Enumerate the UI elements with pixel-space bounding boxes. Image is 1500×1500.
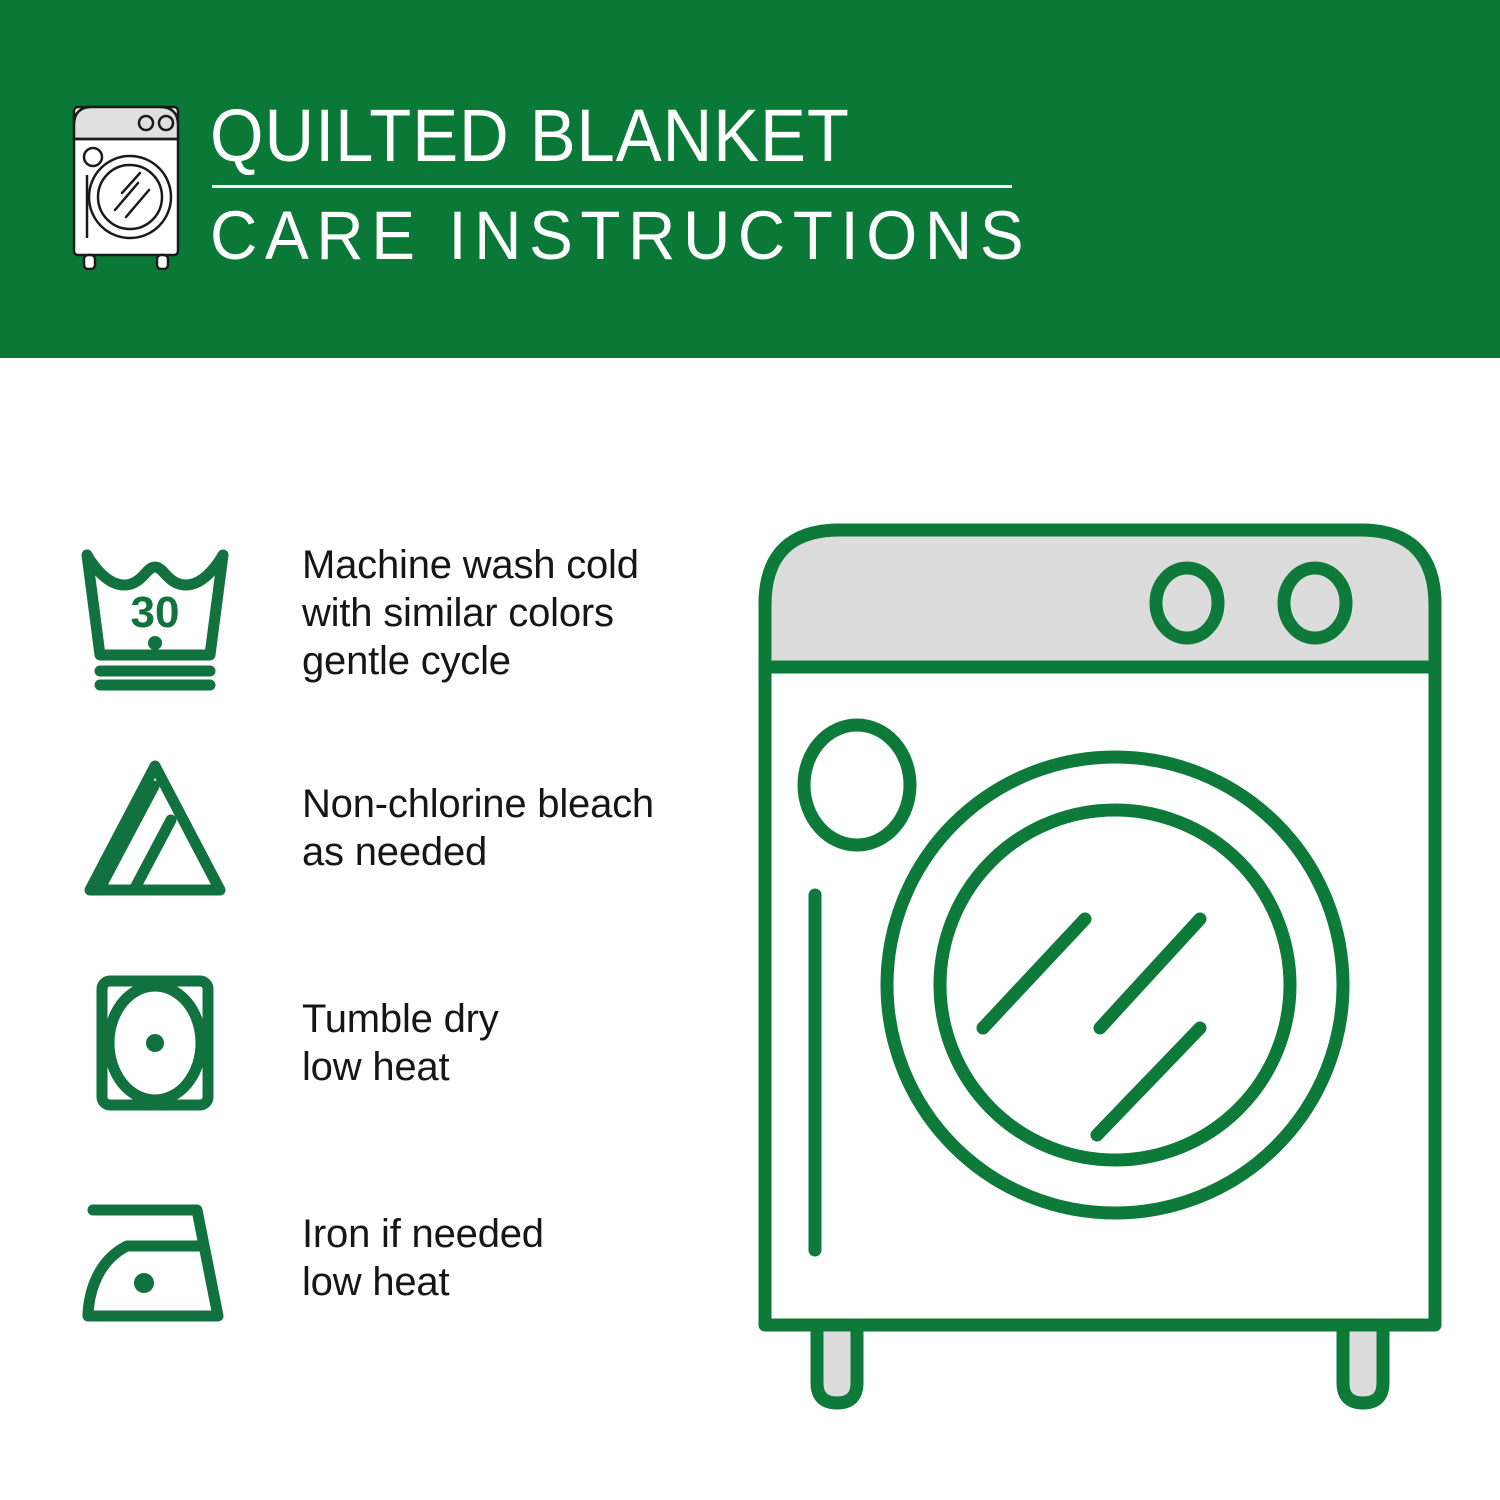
iron-low-heat-symbol: [70, 1173, 240, 1343]
care-label-line: low heat: [302, 1258, 544, 1306]
care-label-line: Non-chlorine bleach: [302, 780, 654, 828]
care-label-line: gentle cycle: [302, 637, 639, 685]
care-instruction-list: 30 Machine wash cold with similar colors…: [70, 505, 710, 1365]
non-chlorine-bleach-symbol: [70, 743, 240, 913]
care-label-line: with similar colors: [302, 589, 639, 637]
title-divider: [212, 185, 1012, 188]
header-band: QUILTED BLANKET CARE INSTRUCTIONS: [0, 0, 1500, 358]
care-label-line: Machine wash cold: [302, 541, 639, 589]
care-instructions-page: QUILTED BLANKET CARE INSTRUCTIONS 30: [0, 0, 1500, 1500]
washing-machine-icon: [60, 95, 192, 270]
page-title: QUILTED BLANKET: [210, 97, 1014, 175]
care-item-label: Iron if needed low heat: [302, 1210, 544, 1306]
header-titles: QUILTED BLANKET CARE INSTRUCTIONS: [210, 95, 1074, 272]
header-content: QUILTED BLANKET CARE INSTRUCTIONS: [60, 95, 1074, 272]
care-item-machine-wash: 30 Machine wash cold with similar colors…: [70, 505, 710, 720]
care-label-line: Iron if needed: [302, 1210, 544, 1258]
care-label-line: low heat: [302, 1043, 499, 1091]
care-label-line: as needed: [302, 828, 654, 876]
care-label-line: Tumble dry: [302, 995, 499, 1043]
front-load-washing-machine-illustration: [745, 495, 1455, 1415]
tumble-dry-low-symbol: [70, 958, 240, 1128]
machine-wash-30-gentle-symbol: 30: [70, 528, 240, 698]
knob-left: [1156, 568, 1218, 638]
care-item-bleach: Non-chlorine bleach as needed: [70, 720, 710, 935]
care-item-label: Machine wash cold with similar colors ge…: [302, 541, 639, 685]
care-item-tumble-dry: Tumble dry low heat: [70, 935, 710, 1150]
page-subtitle: CARE INSTRUCTIONS: [210, 200, 1031, 272]
wash-temp-value: 30: [131, 588, 180, 637]
care-item-iron: Iron if needed low heat: [70, 1150, 710, 1365]
knob-right: [1284, 568, 1346, 638]
care-item-label: Tumble dry low heat: [302, 995, 499, 1091]
care-item-label: Non-chlorine bleach as needed: [302, 780, 654, 876]
